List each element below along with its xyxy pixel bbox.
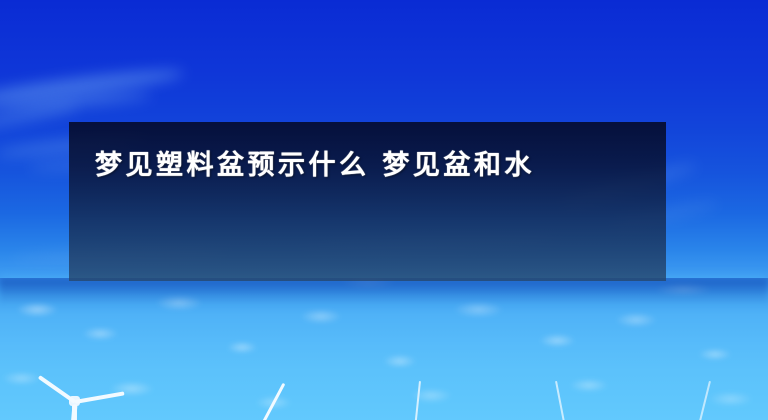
title-overlay-card: 梦见塑料盆预示什么 梦见盆和水 [69,122,666,281]
cirrus-cloud-streak [0,65,185,107]
cloud-deck [0,278,768,420]
cirrus-cloud-streak [0,102,80,133]
cover-image-canvas: 梦见塑料盆预示什么 梦见盆和水 [0,0,768,420]
cirrus-cloud-streak [0,90,152,113]
page-title: 梦见塑料盆预示什么 梦见盆和水 [95,144,640,188]
